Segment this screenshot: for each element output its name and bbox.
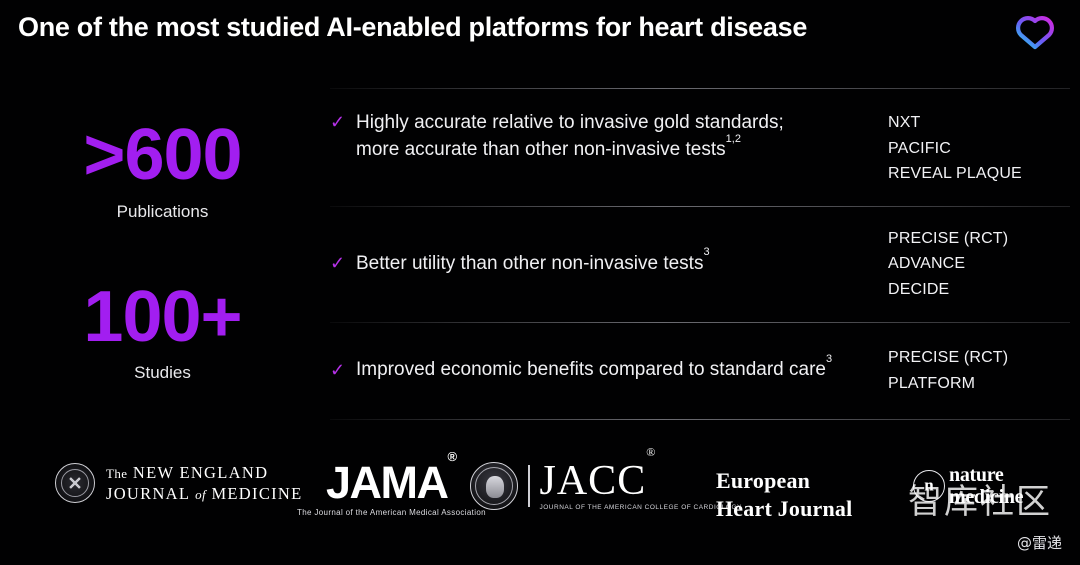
nejm-the: The xyxy=(106,466,127,481)
evidence-row-tags: NXT PACIFIC REVEAL PLAQUE xyxy=(888,110,1070,187)
evidence-text-line1: Better utility than other non-invasive t… xyxy=(356,253,703,274)
study-tag: DECIDE xyxy=(888,277,1070,303)
divider-bottom xyxy=(330,419,1070,420)
journal-logo-strip: The NEW ENGLAND JOURNAL of MEDICINE JAMA… xyxy=(0,452,1080,532)
natmed-line2: medicine xyxy=(949,486,1023,508)
check-icon: ✓ xyxy=(330,253,356,275)
evidence-superscript: 3 xyxy=(703,246,709,258)
evidence-row-accuracy: ✓ Highly accurate relative to invasive g… xyxy=(330,89,1070,206)
nejm-seal-icon xyxy=(55,463,95,503)
journal-logo-jacc: JACC® JOURNAL OF THE AMERICAN COLLEGE OF… xyxy=(470,460,742,511)
natmed-line1: nature xyxy=(949,464,1023,486)
jacc-divider-bar xyxy=(528,465,530,507)
evidence-row-tags: PRECISE (RCT) PLATFORM xyxy=(888,345,1070,396)
jama-subtitle: The Journal of the American Medical Asso… xyxy=(297,508,486,517)
acc-seal-icon xyxy=(470,462,518,510)
jama-trademark: ® xyxy=(447,449,457,464)
stat-studies: 100+ Studies xyxy=(0,282,325,384)
slide-root: One of the most studied AI-enabled platf… xyxy=(0,0,1080,565)
stat-label-studies: Studies xyxy=(0,363,325,383)
evidence-text-line2: more accurate than other non-invasive te… xyxy=(356,139,726,160)
stat-number-publications: >600 xyxy=(0,120,325,191)
evidence-row-text: Improved economic benefits compared to s… xyxy=(356,357,888,384)
journal-logo-jama: JAMA® The Journal of the American Medica… xyxy=(297,460,486,517)
stat-publications: >600 Publications xyxy=(0,120,325,222)
ehj-line1: European xyxy=(716,467,852,495)
evidence-superscript: 1,2 xyxy=(726,133,741,145)
nejm-medicine: MEDICINE xyxy=(211,484,302,503)
study-tag: PLATFORM xyxy=(888,371,1070,397)
jacc-trademark: ® xyxy=(646,445,656,459)
jama-word-text: JAMA xyxy=(326,457,448,508)
check-icon: ✓ xyxy=(330,110,356,134)
study-tag: PRECISE (RCT) xyxy=(888,345,1070,371)
study-tag: PACIFIC xyxy=(888,136,1070,162)
heart-infinity-logo xyxy=(1012,10,1058,52)
evidence-row-economics: ✓ Improved economic benefits compared to… xyxy=(330,323,1070,419)
page-title: One of the most studied AI-enabled platf… xyxy=(18,12,807,43)
jacc-word-text: JACC xyxy=(540,458,647,504)
nejm-of: of xyxy=(195,487,206,502)
nejm-wordmark: The NEW ENGLAND JOURNAL of MEDICINE xyxy=(106,462,303,504)
evidence-superscript: 3 xyxy=(826,353,832,365)
study-tag: PRECISE (RCT) xyxy=(888,226,1070,252)
evidence-text-line1: Highly accurate relative to invasive gol… xyxy=(356,112,784,133)
check-icon: ✓ xyxy=(330,360,356,382)
watermark-handle: @雷递 xyxy=(1017,532,1062,553)
study-tag: NXT xyxy=(888,110,1070,136)
nejm-line1: NEW ENGLAND xyxy=(133,463,268,482)
study-tag: REVEAL PLAQUE xyxy=(888,161,1070,187)
jacc-wordmark: JACC® JOURNAL OF THE AMERICAN COLLEGE OF… xyxy=(540,460,742,511)
nature-mark-icon xyxy=(913,470,945,502)
nejm-journal: JOURNAL xyxy=(106,484,190,503)
nature-medicine-wordmark: nature medicine xyxy=(949,464,1023,509)
study-tag: ADVANCE xyxy=(888,251,1070,277)
evidence-list: ✓ Highly accurate relative to invasive g… xyxy=(330,88,1070,420)
evidence-row-tags: PRECISE (RCT) ADVANCE DECIDE xyxy=(888,226,1070,303)
journal-logo-nejm: The NEW ENGLAND JOURNAL of MEDICINE xyxy=(55,462,303,504)
journal-logo-nature-medicine: nature medicine xyxy=(913,464,1023,509)
evidence-text-line1: Improved economic benefits compared to s… xyxy=(356,359,826,380)
stats-panel: >600 Publications 100+ Studies xyxy=(0,120,325,383)
evidence-row-utility: ✓ Better utility than other non-invasive… xyxy=(330,207,1070,322)
evidence-row-text: Better utility than other non-invasive t… xyxy=(356,251,888,278)
jama-wordmark: JAMA® xyxy=(297,460,486,505)
evidence-row-text: Highly accurate relative to invasive gol… xyxy=(356,110,888,164)
jacc-subtitle: JOURNAL OF THE AMERICAN COLLEGE OF CARDI… xyxy=(540,504,742,511)
stat-number-studies: 100+ xyxy=(0,282,325,353)
stat-label-publications: Publications xyxy=(0,202,325,222)
ehj-line2: Heart Journal xyxy=(716,495,852,523)
journal-logo-european-heart-journal: European Heart Journal xyxy=(716,467,852,523)
slide-header: One of the most studied AI-enabled platf… xyxy=(0,0,1080,68)
